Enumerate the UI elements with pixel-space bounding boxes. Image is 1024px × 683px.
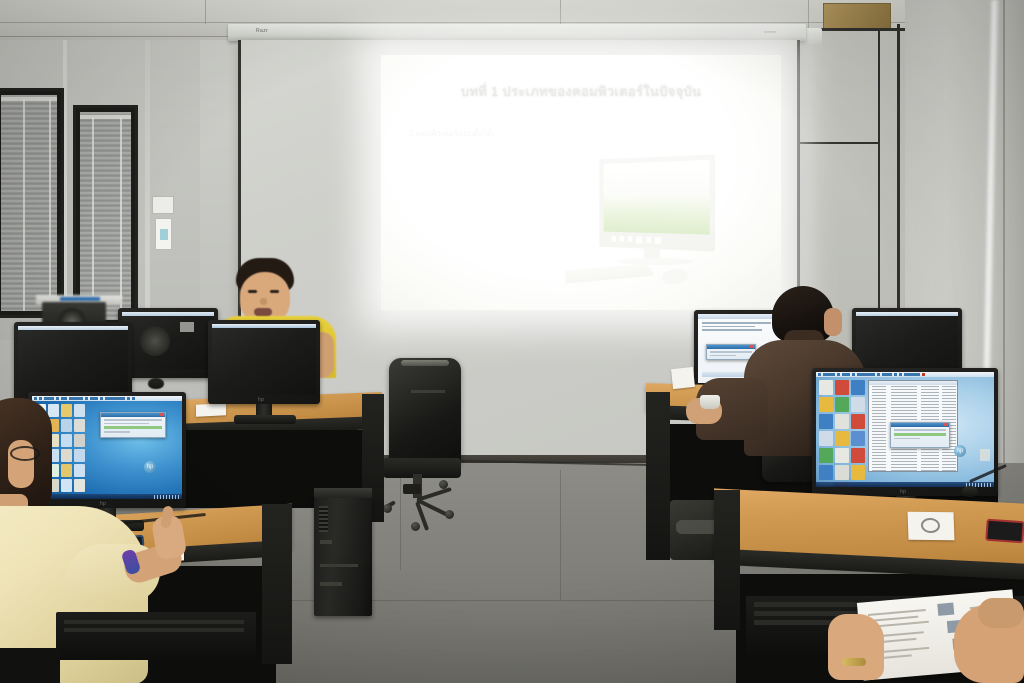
- printed-circle-graphic-icon: [921, 518, 941, 533]
- hp-watermark-icon: hp: [954, 445, 966, 457]
- desk-left-front-panel: [262, 504, 292, 664]
- aio-mouse-icon: [661, 267, 689, 285]
- foreground-shadow: [0, 648, 60, 683]
- monitor-screen: [122, 312, 214, 369]
- monitor-center-rear[interactable]: hp: [208, 320, 320, 404]
- blind-cord: [49, 99, 51, 311]
- monitor-front-right[interactable]: hp hp: [812, 368, 998, 496]
- ceiling-tile-seam: [560, 0, 561, 24]
- eye-left: [248, 290, 257, 293]
- chair-caster: [439, 480, 448, 489]
- monitor-stand-base: [234, 415, 296, 424]
- dialog-progress-bar: [894, 433, 946, 436]
- wall-panel-mullion: [145, 40, 150, 336]
- chair-backrest: [389, 358, 461, 466]
- hp-logo-icon: hp: [900, 489, 906, 495]
- coffee-cup[interactable]: [700, 395, 720, 409]
- rear-fan-icon: [140, 326, 170, 356]
- keyboard[interactable]: [56, 612, 256, 660]
- chair-seat: [383, 458, 461, 478]
- tower-top: [314, 488, 372, 498]
- bracelet: [842, 658, 866, 666]
- mouse[interactable]: [962, 486, 978, 497]
- desk-right-front-panel: [714, 490, 740, 630]
- dialog-window[interactable]: [890, 422, 950, 448]
- ceiling-vent-icon: [823, 3, 891, 29]
- aio-monitor-icon: [599, 154, 715, 251]
- blind-cord: [23, 99, 25, 311]
- projector-screen-housing: Razr screen: [228, 24, 806, 41]
- chair-gas-lift: [403, 484, 421, 494]
- wall-switch-box-icon: [155, 218, 172, 250]
- blind-rail: [80, 115, 131, 119]
- aio-stand-base: [618, 258, 694, 265]
- slide-title: บทที่ 1 ประเภทของคอมพิวเตอร์ในปัจจุบัน: [381, 81, 781, 102]
- monitor-mid-left-2[interactable]: [118, 308, 218, 378]
- blind-cord: [120, 117, 122, 317]
- chair-top-trim: [401, 360, 449, 366]
- hp-logo-icon: hp: [258, 397, 264, 403]
- cpu-tower: [314, 498, 372, 616]
- close-icon: [944, 423, 948, 426]
- window-left: [0, 88, 64, 318]
- chair-caster: [383, 504, 392, 513]
- aio-display: [604, 160, 710, 235]
- projected-slide: บทที่ 1 ประเภทของคอมพิวเตอร์ในปัจจุบัน 2…: [381, 55, 781, 310]
- wrist-right: [978, 598, 1024, 628]
- monitor-screen: [18, 326, 128, 395]
- mouse[interactable]: [148, 378, 164, 389]
- tower-logo: [320, 582, 342, 586]
- tower-optical-drive: [320, 564, 358, 567]
- dialog-text-line: [894, 438, 920, 440]
- dialog-titlebar: [891, 423, 949, 427]
- screen-edge-glow: [18, 326, 128, 330]
- screen-brand-label-right: screen: [764, 29, 776, 34]
- chair-logo: [411, 390, 445, 393]
- desktop-icon-grid[interactable]: [819, 380, 865, 487]
- desktop-side-icon[interactable]: [980, 449, 990, 461]
- slide-subtitle: 2 คอมพิวเตอร์แบบตั้งโต๊ะ: [409, 127, 496, 140]
- key-row: [64, 628, 244, 632]
- smartphone[interactable]: [985, 519, 1024, 544]
- printed-card: [908, 512, 955, 540]
- explorer-toolbar: [869, 381, 957, 385]
- blind-cord: [92, 117, 94, 317]
- eye-right: [270, 290, 279, 293]
- tower-vent: [319, 506, 328, 532]
- person-hands-reader: [828, 604, 1024, 683]
- key-row: [64, 620, 244, 624]
- aio-keyboard-icon: [565, 264, 654, 284]
- nose: [260, 298, 267, 305]
- monitor-screen: [212, 324, 316, 395]
- hand-left: [828, 614, 884, 680]
- screen-edge-glow: [212, 324, 316, 328]
- window-blinds: [80, 112, 131, 320]
- ear-side: [824, 308, 842, 336]
- chair-caster: [445, 510, 454, 519]
- screen-brand-label: Razr: [256, 28, 268, 34]
- screen-edge-glow: [856, 312, 958, 316]
- floor-seam: [560, 470, 561, 600]
- chair-caster: [411, 522, 420, 531]
- tower-badge: [320, 540, 332, 544]
- classroom-photo: Razr screen บทที่ 1 ประเภทของคอมพิวเตอร์…: [0, 0, 1024, 683]
- screen-edge-glow: [122, 312, 214, 316]
- explorer-sidebar[interactable]: [872, 386, 886, 471]
- aio-dock-icons: [612, 235, 701, 246]
- rear-label: [180, 322, 194, 332]
- slide-computer-artwork: [566, 157, 736, 287]
- mouth: [254, 308, 272, 316]
- wall-outlet-icon: [152, 196, 174, 214]
- office-chair[interactable]: [375, 358, 470, 538]
- window-right: [73, 105, 138, 327]
- glasses-icon: [10, 446, 40, 461]
- desk-right-back-panel: [646, 392, 670, 560]
- monitor-screen: hp: [816, 372, 994, 487]
- window-top-toolbar: [816, 372, 994, 377]
- dialog-text-line: [894, 429, 946, 431]
- ceiling-tile-seam: [205, 0, 206, 24]
